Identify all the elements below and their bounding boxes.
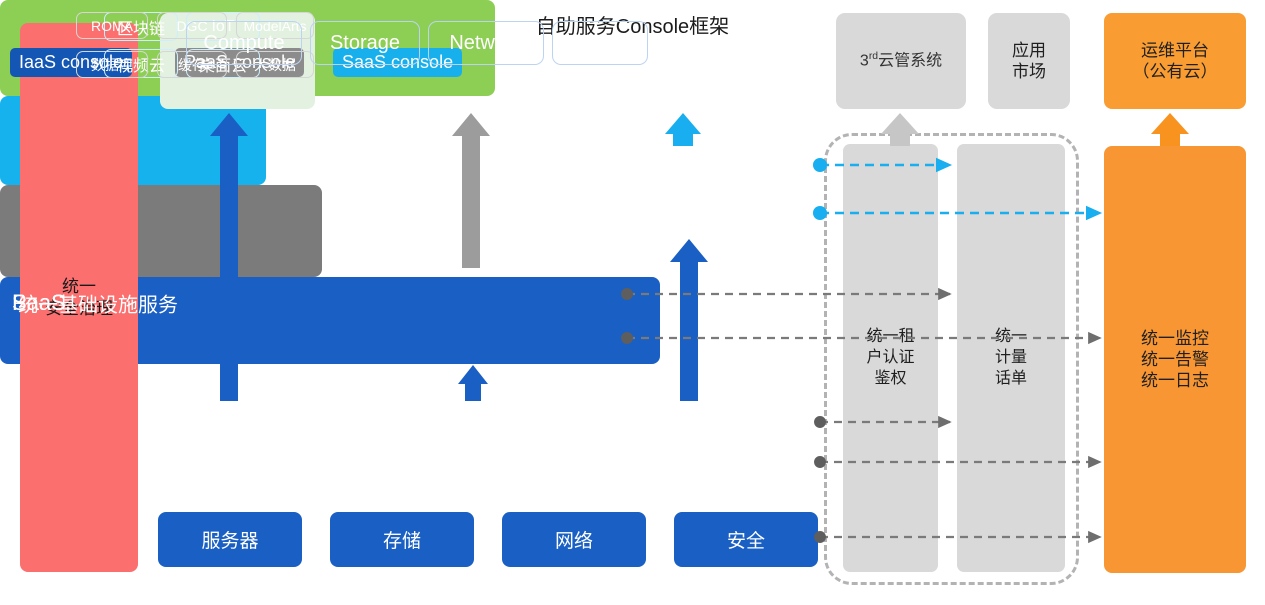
iaas-chip-storage[interactable]: Storage [310,21,420,65]
paas-chip-database[interactable]: 数据库 [76,51,148,78]
resource-box-network[interactable]: 网络 [502,512,646,567]
application-market-box: 应用市场 [988,13,1070,109]
unified-tenant-auth-label: 统一租户认证鉴权 [843,327,938,389]
unified-infrastructure-service-label: 统一基础设施服务 [18,288,178,317]
paas-chip-roma[interactable]: ROMA [76,12,148,39]
unified-tenant-auth-column: 统一租户认证鉴权 [843,144,938,572]
arrow-iaas-to-saas [670,239,708,401]
unified-monitoring-panel: 统一监控统一告警统一日志 [1104,146,1246,573]
unified-monitoring-label: 统一监控统一告警统一日志 [1141,328,1209,392]
arrow-paas-to-console [452,113,490,268]
resource-box-storage[interactable]: 存储 [330,512,474,567]
iaas-chip-cce[interactable]: CCE [552,21,648,65]
ops-platform-label: 运维平台（公有云） [1133,40,1218,83]
arrow-ops-side-to-ops-top [1151,113,1189,146]
application-market-label: 应用市场 [1012,40,1046,83]
ops-platform-public-cloud-box: 运维平台（公有云） [1104,13,1246,109]
resource-box-security[interactable]: 安全 [674,512,818,567]
architecture-diagram: 统一安全治理 API网关 自助服务Console框架 IaaS console … [0,0,1265,605]
iaas-chip-network[interactable]: Network [428,21,544,65]
arrow-saas-to-saas-console [665,113,701,146]
arrow-iaas-to-paas [458,365,488,401]
third-party-cloud-management-box: 3rd云管系统 [836,13,966,109]
resource-box-server[interactable]: 服务器 [158,512,302,567]
iaas-chip-compute[interactable]: Compute [186,21,302,65]
third-party-cloud-management-label: 3rd云管系统 [860,50,942,71]
unified-metering-column: 统一计量话单 [957,144,1065,572]
unified-metering-label: 统一计量话单 [957,327,1065,389]
